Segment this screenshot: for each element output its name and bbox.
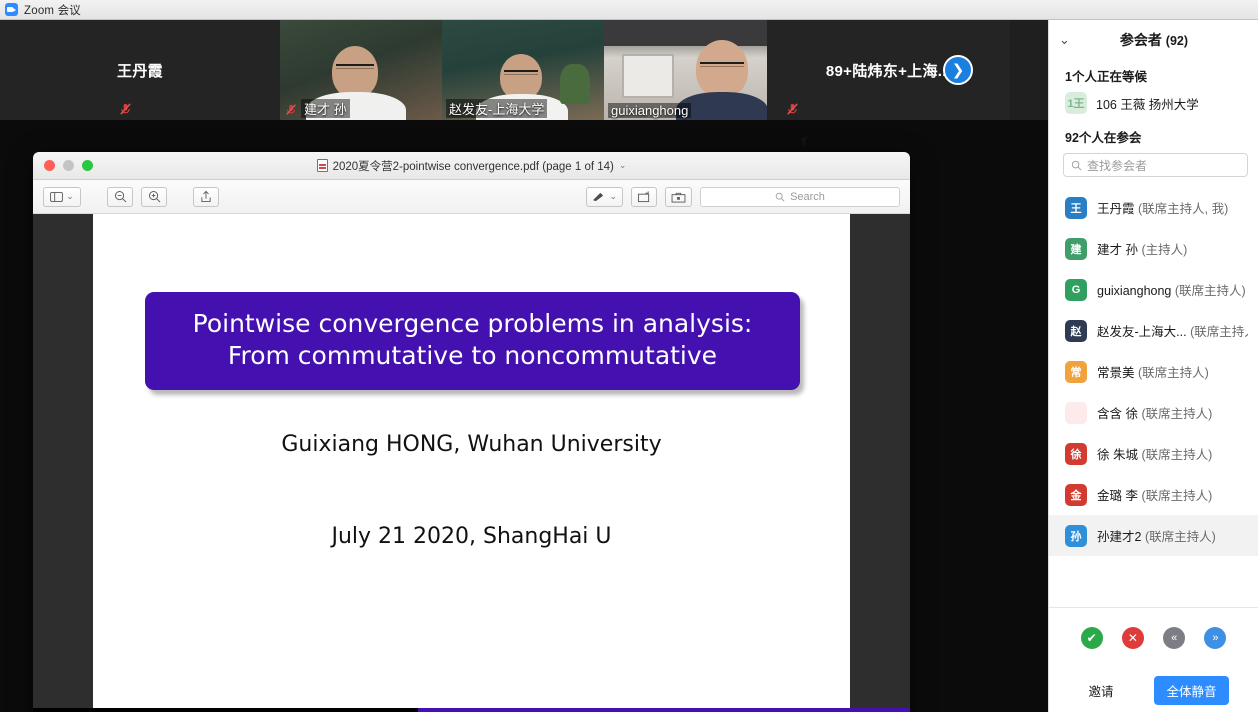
list-item[interactable]: 王 王丹霞 (联席主持人, 我) xyxy=(1049,187,1258,228)
pdf-toolbar: ⌄ xyxy=(33,180,910,214)
markup-pen-icon xyxy=(592,191,606,202)
avatar: G xyxy=(1065,279,1087,301)
chevron-down-icon: ⌄ xyxy=(66,191,74,202)
meeting-stage: 王丹霞 建才 孙 xyxy=(0,20,1048,712)
participant-role: (联席主持人, 我) xyxy=(1138,202,1228,216)
toolbox-button[interactable] xyxy=(665,187,692,207)
video-tile-name: guixianghong xyxy=(608,103,691,118)
waiting-list-item[interactable]: 1王 106 王薇 扬州大学 xyxy=(1049,89,1258,121)
close-icon[interactable] xyxy=(44,160,55,171)
minimize-icon[interactable] xyxy=(63,160,74,171)
zoom-out-icon xyxy=(114,190,127,203)
next-page-icon[interactable]: » xyxy=(1204,627,1226,649)
participant-name: 含含 徐 (联席主持人) xyxy=(1097,403,1212,422)
participant-name: 建才 孙 (主持人) xyxy=(1097,239,1187,258)
footer-dark-segment xyxy=(33,708,418,712)
sidebar-toggle-button[interactable]: ⌄ xyxy=(43,187,81,207)
pdf-document-title: 2020夏令营2-pointwise convergence.pdf (page… xyxy=(33,158,910,174)
participant-display-name: 建才 孙 xyxy=(1097,243,1138,257)
avatar: 赵 xyxy=(1065,320,1087,342)
avatar: 王 xyxy=(1065,197,1087,219)
avatar: 金 xyxy=(1065,484,1087,506)
in-meeting-label: 92个人在参会 xyxy=(1049,121,1258,150)
zoom-logo-icon xyxy=(5,3,18,16)
zoom-meeting-screen: Zoom 会议 王丹霞 xyxy=(0,0,1258,712)
participant-search-wrap: 查找参会者 xyxy=(1049,150,1258,185)
participant-name: 金璐 李 (联席主持人) xyxy=(1097,485,1212,504)
participant-display-name: 含含 徐 xyxy=(1097,407,1138,421)
waiting-room-label: 1个人正在等候 xyxy=(1049,60,1258,89)
list-item[interactable]: 建 建才 孙 (主持人) xyxy=(1049,228,1258,269)
pdf-footer-bar xyxy=(33,708,910,712)
participant-role: (联席主持人) xyxy=(1141,448,1212,462)
mic-muted-icon xyxy=(118,102,133,117)
avatar: 建 xyxy=(1065,238,1087,260)
participants-count: (92) xyxy=(1166,34,1188,48)
participant-role: (联席主持人) xyxy=(1141,489,1212,503)
avatar xyxy=(1065,402,1087,424)
list-item[interactable]: 徐 徐 朱城 (联席主持人) xyxy=(1049,433,1258,474)
os-title-bar: Zoom 会议 xyxy=(0,0,1258,20)
pdf-preview-window: 2020夏令营2-pointwise convergence.pdf (page… xyxy=(33,152,910,712)
zoom-in-icon xyxy=(148,190,161,203)
toolbox-icon xyxy=(671,191,686,203)
video-tile-name: 赵发友-上海大学 xyxy=(446,99,547,118)
participant-display-name: 常景美 xyxy=(1097,366,1135,380)
chevron-right-icon: ❯ xyxy=(952,63,965,78)
markup-button[interactable]: ⌄ xyxy=(586,187,623,207)
chevron-down-icon[interactable]: ⌄ xyxy=(619,160,627,171)
rotate-button[interactable] xyxy=(631,187,657,207)
footer-accent-segment xyxy=(418,708,910,712)
share-button[interactable] xyxy=(193,187,219,207)
slide-title: Pointwise convergence problems in analys… xyxy=(145,292,800,390)
participant-role: (联席主持人) xyxy=(1190,325,1248,339)
participant-role: (主持人) xyxy=(1141,243,1187,257)
invite-button[interactable]: 邀请 xyxy=(1078,677,1123,704)
participant-display-name: 孙建才2 xyxy=(1097,530,1141,544)
list-item[interactable]: 孙 孙建才2 (联席主持人) xyxy=(1049,515,1258,556)
remove-cross-icon[interactable]: ✕ xyxy=(1122,627,1144,649)
list-item[interactable]: 常 常景美 (联席主持人) xyxy=(1049,351,1258,392)
chevron-down-icon[interactable]: ⌄ xyxy=(1059,32,1070,48)
participants-panel-header: ⌄ 参会者 (92) xyxy=(1049,20,1258,60)
participant-display-name: 王丹霞 xyxy=(1097,202,1135,216)
participants-list: 王 王丹霞 (联席主持人, 我) 建 建才 孙 (主持人) G guixiang… xyxy=(1049,185,1258,607)
avatar: 孙 xyxy=(1065,525,1087,547)
video-filmstrip: 王丹霞 建才 孙 xyxy=(0,20,1048,120)
avatar: 1王 xyxy=(1065,92,1087,114)
video-tile-jiancai-sun[interactable]: 建才 孙 xyxy=(280,20,442,120)
participant-display-name: 金璐 李 xyxy=(1097,489,1138,503)
mic-muted-icon xyxy=(284,103,298,117)
participant-role: (联席主持人) xyxy=(1138,366,1209,380)
video-tile-lu-weidong[interactable]: 89+陆炜东+上海... xyxy=(767,20,1010,120)
maximize-icon[interactable] xyxy=(82,160,93,171)
participant-role: (联席主持人) xyxy=(1175,284,1246,298)
mute-all-button[interactable]: 全体静音 xyxy=(1154,676,1228,705)
participants-panel: ⌄ 参会者 (92) 1个人正在等候 1王 106 王薇 扬州大学 92个人在参… xyxy=(1048,20,1258,712)
search-placeholder: 查找参会者 xyxy=(1087,157,1147,174)
participant-name: 徐 朱城 (联席主持人) xyxy=(1097,444,1212,463)
window-controls[interactable] xyxy=(33,160,93,171)
pdf-canvas: Pointwise convergence problems in analys… xyxy=(33,214,910,712)
pdf-file-icon xyxy=(317,159,328,172)
pdf-page: Pointwise convergence problems in analys… xyxy=(93,214,850,712)
participant-display-name: 徐 朱城 xyxy=(1097,448,1138,462)
list-item[interactable]: 含含 徐 (联席主持人) xyxy=(1049,392,1258,433)
zoom-in-button[interactable] xyxy=(141,187,167,207)
participant-display-name: 赵发友-上海大... xyxy=(1097,325,1187,339)
avatar: 常 xyxy=(1065,361,1087,383)
participants-footer-buttons: 邀请 全体静音 xyxy=(1049,668,1258,712)
avatar: 徐 xyxy=(1065,443,1087,465)
video-tile-name: 王丹霞 xyxy=(117,60,163,81)
search-icon xyxy=(775,192,785,202)
participant-name: 孙建才2 (联席主持人) xyxy=(1097,526,1216,545)
filmstrip-next-button[interactable]: ❯ xyxy=(943,55,973,85)
waiting-participant-name: 106 王薇 扬州大学 xyxy=(1096,94,1199,113)
sidebar-icon xyxy=(50,192,63,202)
search-icon xyxy=(1071,160,1082,171)
search-placeholder: Search xyxy=(790,191,825,203)
window-title: Zoom 会议 xyxy=(24,2,81,18)
slide-date: July 21 2020, ShangHai U xyxy=(93,524,850,549)
participant-name: 赵发友-上海大... (联席主持人) xyxy=(1097,321,1248,340)
pdf-title-bar[interactable]: 2020夏令营2-pointwise convergence.pdf (page… xyxy=(33,152,910,180)
participant-name: 常景美 (联席主持人) xyxy=(1097,362,1209,381)
video-tile-guixianghong[interactable]: guixianghong xyxy=(604,20,767,120)
mouse-cursor xyxy=(801,136,811,148)
participant-action-icons: ✔ ✕ « » xyxy=(1049,608,1258,668)
participants-panel-footer: ✔ ✕ « » 邀请 全体静音 xyxy=(1049,607,1258,712)
admit-check-icon[interactable]: ✔ xyxy=(1081,627,1103,649)
participant-name: 王丹霞 (联席主持人, 我) xyxy=(1097,198,1228,217)
video-tile-name: 89+陆炜东+上海... xyxy=(826,60,951,81)
participant-role: (联席主持人) xyxy=(1145,530,1216,544)
pdf-title-text: 2020夏令营2-pointwise convergence.pdf (page… xyxy=(333,158,614,174)
prev-page-icon[interactable]: « xyxy=(1163,627,1185,649)
video-tile-wang-danxia[interactable]: 王丹霞 xyxy=(0,20,280,120)
zoom-out-button[interactable] xyxy=(107,187,133,207)
chevron-down-icon: ⌄ xyxy=(609,191,617,202)
list-item[interactable]: 金 金璐 李 (联席主持人) xyxy=(1049,474,1258,515)
video-tile-zhao-fayou[interactable]: 赵发友-上海大学 xyxy=(442,20,604,120)
search-input[interactable]: Search xyxy=(700,187,900,207)
list-item[interactable]: 赵 赵发友-上海大... (联席主持人) xyxy=(1049,310,1258,351)
slide-author: Guixiang HONG, Wuhan University xyxy=(93,432,850,457)
panel-title-text: 参会者 xyxy=(1120,32,1162,48)
participant-search-input[interactable]: 查找参会者 xyxy=(1063,153,1248,177)
participant-name: guixianghong (联席主持人) xyxy=(1097,280,1246,299)
list-item[interactable]: G guixianghong (联席主持人) xyxy=(1049,269,1258,310)
rotate-icon xyxy=(637,190,651,203)
participant-role: (联席主持人) xyxy=(1141,407,1212,421)
mic-muted-icon xyxy=(785,102,800,117)
participants-panel-title: 参会者 (92) xyxy=(1070,30,1244,50)
share-icon xyxy=(200,190,212,203)
participant-display-name: guixianghong xyxy=(1097,284,1171,298)
video-tile-name: 建才 孙 xyxy=(301,99,350,118)
